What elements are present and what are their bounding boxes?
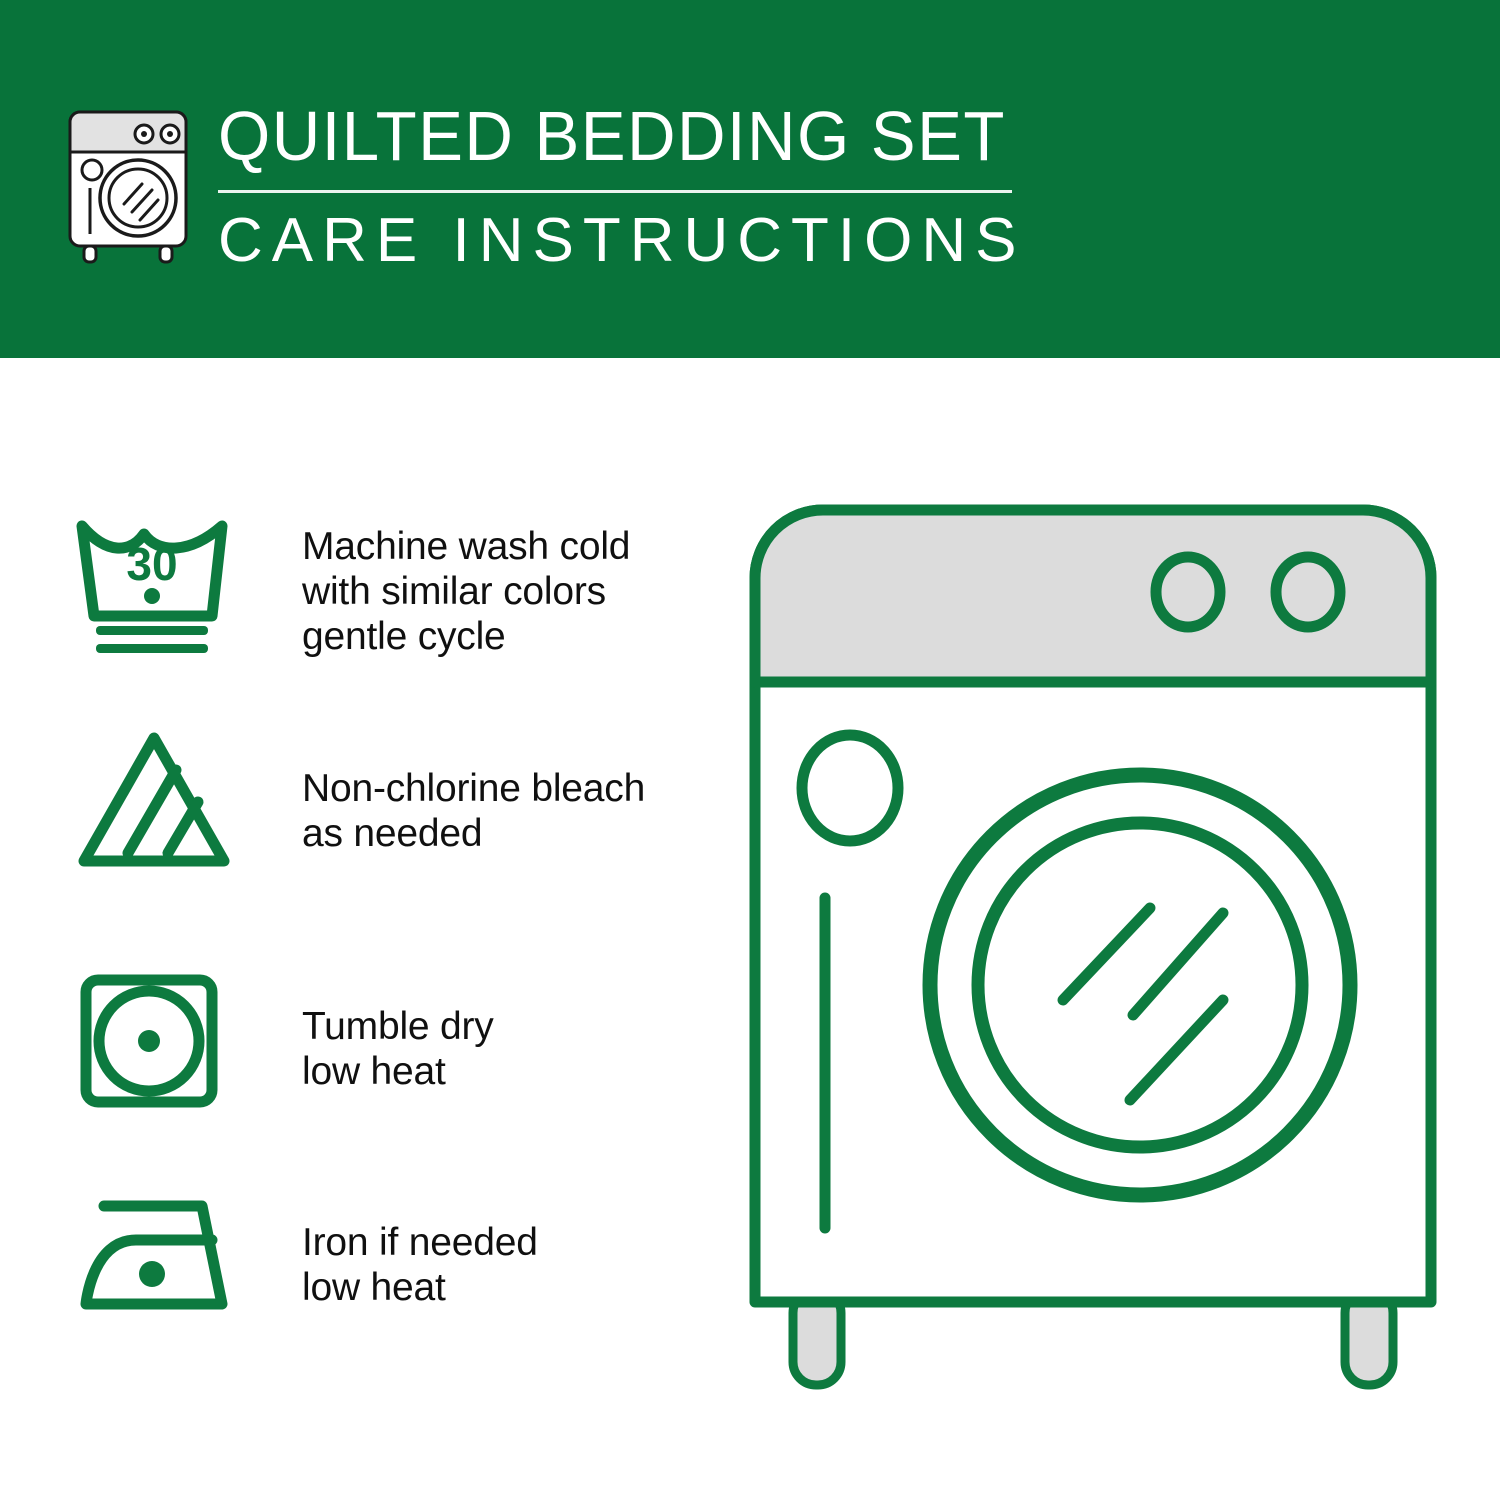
care-text-line: Non-chlorine bleach: [302, 766, 645, 811]
non-chlorine-bleach-triangle-symbol: [72, 728, 247, 883]
tumble-dry-low-heat-symbol: [72, 966, 247, 1121]
care-text-line: low heat: [302, 1265, 538, 1310]
wash-temperature-label: 30: [126, 538, 177, 590]
care-row-bleach-text: Non-chlorine bleach as needed: [302, 766, 645, 856]
care-text-line: low heat: [302, 1049, 494, 1094]
washer-knob-right: [1276, 557, 1340, 627]
iron-low-heat-symbol: [72, 1188, 257, 1333]
care-text-line: Iron if needed: [302, 1220, 538, 1265]
washer-door-inner-ring: [978, 823, 1302, 1147]
front-load-washing-machine-illustration: [745, 500, 1445, 1410]
care-text-line: Machine wash cold: [302, 524, 630, 569]
care-row-tumble-dry-text: Tumble dry low heat: [302, 1004, 494, 1094]
care-instructions-infographic: QUILTED BEDDING SET CARE INSTRUCTIONS 30: [0, 0, 1500, 1500]
care-text-line: as needed: [302, 811, 645, 856]
header-banner: QUILTED BEDDING SET CARE INSTRUCTIONS: [0, 0, 1500, 358]
machine-wash-30-gentle-symbol: 30: [72, 508, 247, 663]
washing-machine-icon: [62, 104, 194, 264]
header-text-block: QUILTED BEDDING SET CARE INSTRUCTIONS: [218, 98, 1018, 275]
care-text-line: Tumble dry: [302, 1004, 494, 1049]
washer-knob-left: [1156, 557, 1220, 627]
page-title: QUILTED BEDDING SET: [218, 98, 986, 174]
care-instruction-list: 30 Machine wash cold with similar colors…: [0, 358, 740, 1500]
page-subtitle: CARE INSTRUCTIONS: [218, 207, 1018, 275]
care-row-iron-text: Iron if needed low heat: [302, 1220, 538, 1310]
title-divider: [218, 190, 1012, 193]
care-row-wash-text: Machine wash cold with similar colors ge…: [302, 524, 630, 659]
care-text-line: gentle cycle: [302, 614, 630, 659]
washer-indicator-circle: [802, 735, 898, 841]
care-text-line: with similar colors: [302, 569, 630, 614]
